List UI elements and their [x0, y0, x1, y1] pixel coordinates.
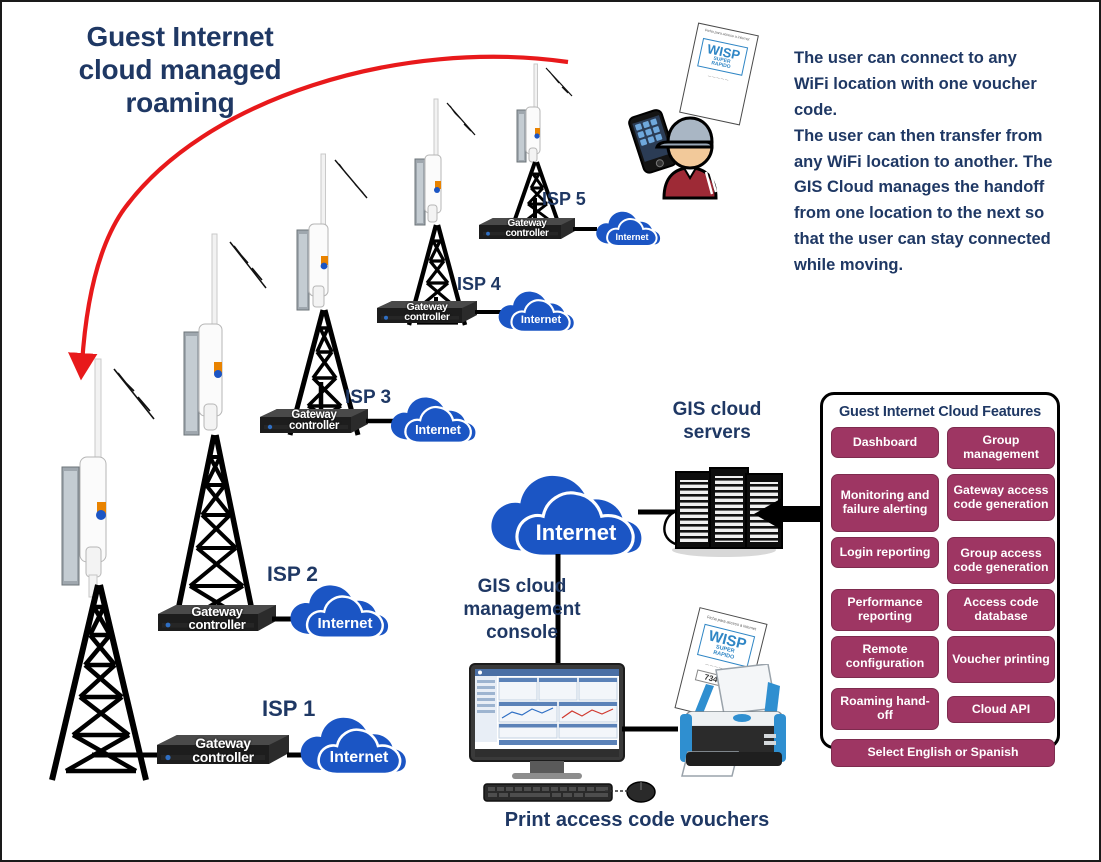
gateway-controller-1[interactable]: Gateway controller: [157, 733, 289, 766]
description-text: The user can connect to any WiFi locatio…: [794, 46, 1056, 279]
feature-dashboard[interactable]: Dashboard: [831, 427, 939, 458]
console-caption: GIS cloud management console: [442, 575, 602, 645]
features-grid: Dashboard Group management Monitoring an…: [831, 427, 1055, 772]
cloud-icon: [486, 462, 646, 559]
feature-gateway-access-code-generation[interactable]: Gateway access code generation: [947, 474, 1055, 521]
gateway-box-icon: [260, 407, 368, 435]
cloud-icon: [287, 576, 391, 640]
feature-cloud-api[interactable]: Cloud API: [947, 696, 1055, 723]
description-paragraph-2: The user can then transfer from any WiFi…: [794, 124, 1056, 279]
cloud-icon: [496, 284, 576, 334]
features-panel-title: Guest Internet Cloud Features: [823, 404, 1057, 420]
servers-caption-line-1: GIS cloud: [652, 398, 782, 421]
gateway-box-icon: [479, 216, 575, 241]
gateway-controller-4[interactable]: Gateway controller: [377, 299, 477, 325]
printer-caption: Print access code vouchers: [492, 808, 782, 832]
description-paragraph-1: The user can connect to any WiFi locatio…: [794, 46, 1056, 124]
internet-cloud-3: Internet: [388, 389, 478, 445]
feature-select-english-or-spanish[interactable]: Select English or Spanish: [831, 739, 1055, 767]
desktop-monitor-icon[interactable]: [468, 662, 648, 802]
cloud-icon: [594, 205, 662, 248]
feature-performance-reporting[interactable]: Performance reporting: [831, 589, 939, 631]
internet-cloud-2: Internet: [287, 576, 391, 640]
isp-label-4: ISP 4: [457, 274, 501, 295]
printer-icon[interactable]: [672, 664, 792, 782]
diagram-canvas: Guest Internet cloud managed roaming The…: [0, 0, 1101, 862]
gateway-box-icon: [377, 299, 477, 325]
feature-access-code-database[interactable]: Access code database: [947, 589, 1055, 631]
gateway-controller-3[interactable]: Gateway controller: [260, 407, 368, 435]
console-caption-line-2: management: [442, 598, 602, 621]
cloud-icon: [388, 389, 478, 445]
internet-cloud-4: Internet: [496, 284, 576, 334]
internet-cloud-center: Internet: [486, 462, 646, 559]
servers-caption-line-2: servers: [652, 421, 782, 444]
mouse-cable: [605, 786, 631, 796]
roaming-arrow-icon: [2, 2, 642, 422]
gateway-box-icon: [158, 603, 276, 633]
isp-label-3: ISP 3: [345, 387, 391, 409]
console-caption-line-1: GIS cloud: [442, 575, 602, 598]
user-with-phone-icon: [624, 102, 734, 202]
feature-group-access-code-generation[interactable]: Group access code generation: [947, 537, 1055, 584]
console-caption-line-3: console: [442, 621, 602, 644]
internet-cloud-5: Internet: [594, 205, 662, 248]
feature-remote-configuration[interactable]: Remote configuration: [831, 636, 939, 678]
black-left-arrow-icon: [754, 498, 826, 530]
feature-login-reporting[interactable]: Login reporting: [831, 537, 939, 568]
feature-voucher-printing[interactable]: Voucher printing: [947, 636, 1055, 683]
feature-roaming-hand-off[interactable]: Roaming hand-off: [831, 688, 939, 730]
feature-group-management[interactable]: Group management: [947, 427, 1055, 469]
isp-label-5: ISP 5: [542, 189, 586, 210]
link-line-tower1-gateway1: [92, 750, 162, 760]
gateway-box-icon: [157, 733, 289, 766]
features-panel: Guest Internet Cloud Features Dashboard …: [820, 392, 1060, 749]
internet-cloud-1: Internet: [297, 708, 409, 776]
link-line-console-printer: [622, 724, 678, 734]
gateway-controller-5[interactable]: Gateway controller: [479, 216, 575, 241]
gateway-controller-2[interactable]: Gateway controller: [158, 603, 276, 633]
cloud-icon: [297, 708, 409, 776]
feature-monitoring-and-failure-alerting[interactable]: Monitoring and failure alerting: [831, 474, 939, 532]
servers-caption: GIS cloud servers: [652, 398, 782, 444]
